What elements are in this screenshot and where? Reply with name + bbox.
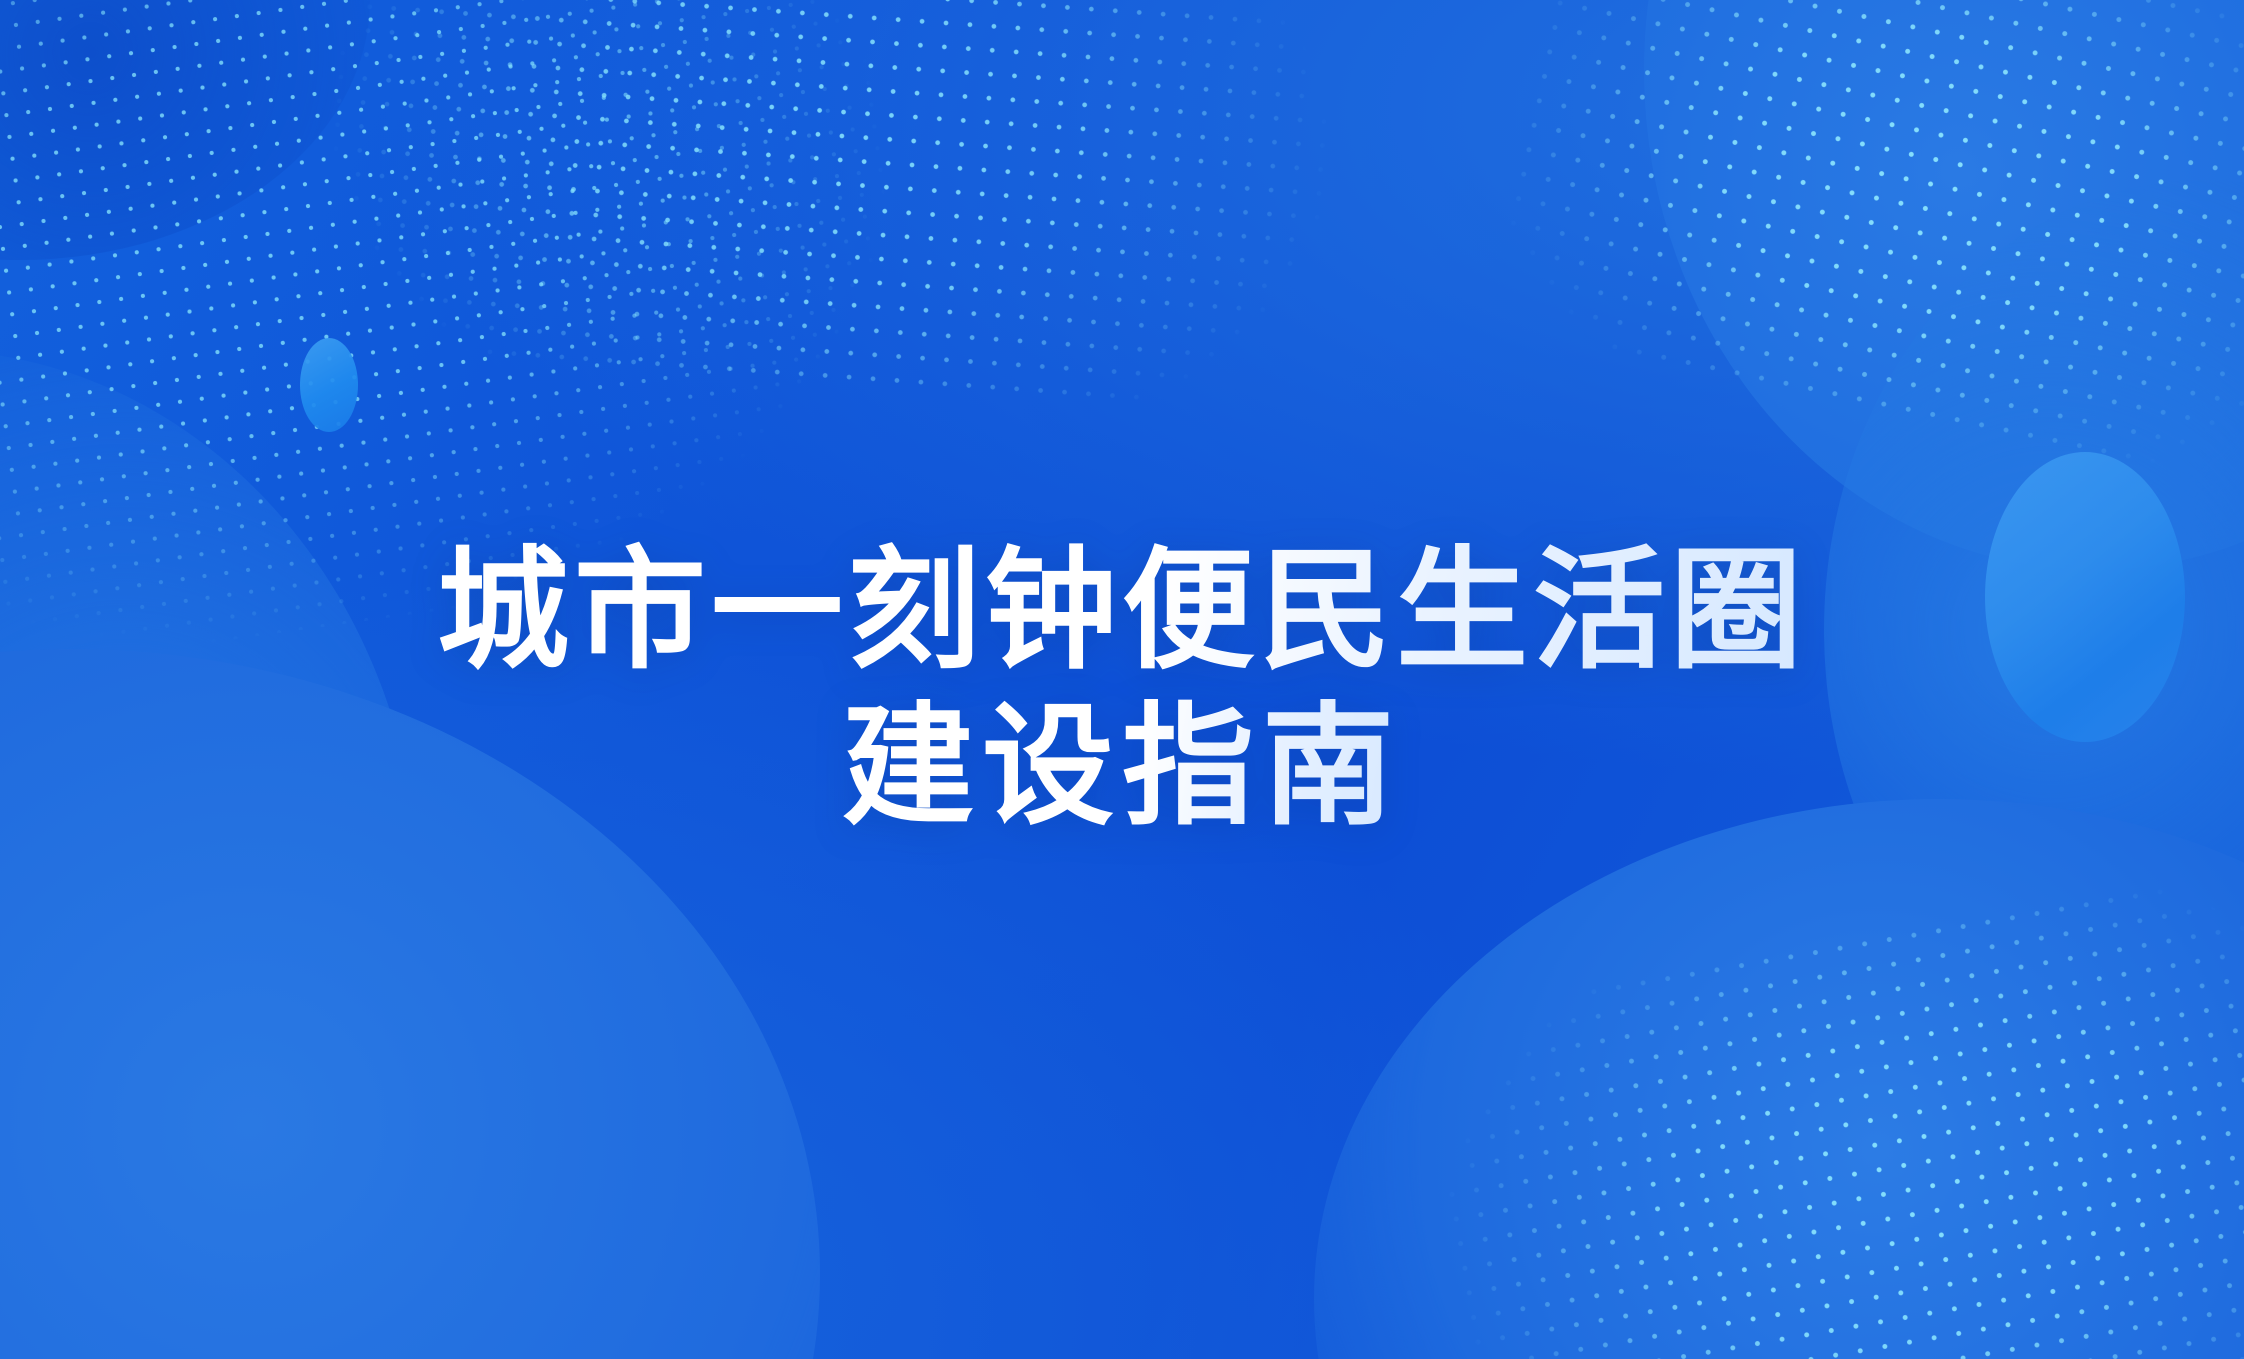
poster-title-block: 城市一刻钟便民生活圈 建设指南 (0, 0, 2244, 1359)
poster-title-line-2: 建设指南 (842, 689, 1402, 845)
poster-title-line-1: 城市一刻钟便民生活圈 (437, 533, 1807, 689)
poster-banner: 城市一刻钟便民生活圈 建设指南 (0, 0, 2244, 1359)
